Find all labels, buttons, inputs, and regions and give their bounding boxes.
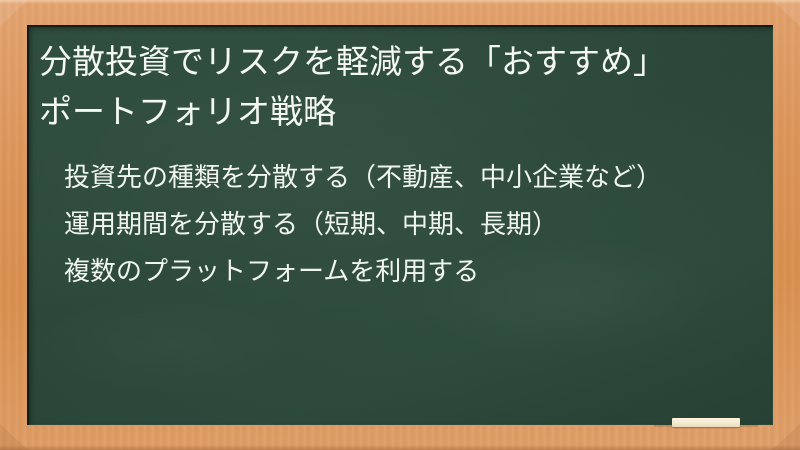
chalk-stick (672, 418, 740, 427)
frame-bottom-shadow (0, 445, 800, 450)
slide-content: 分散投資でリスクを軽減する「おすすめ」ポートフォリオ戦略 投資先の種類を分散する… (27, 25, 773, 425)
frame-top-highlight (0, 0, 800, 4)
bullet-list: 投資先の種類を分散する（不動産、中小企業など） 運用期間を分散する（短期、中期、… (33, 155, 759, 294)
bullet-item-2: 運用期間を分散する（短期、中期、長期） (64, 202, 704, 247)
chalkboard-slide: 分散投資でリスクを軽減する「おすすめ」ポートフォリオ戦略 投資先の種類を分散する… (0, 0, 800, 450)
bullet-item-3: 複数のプラットフォームを利用する (64, 249, 704, 294)
bullet-item-1: 投資先の種類を分散する（不動産、中小企業など） (64, 155, 704, 200)
slide-title: 分散投資でリスクを軽減する「おすすめ」ポートフォリオ戦略 (33, 33, 706, 137)
chalkboard-surface: 分散投資でリスクを軽減する「おすすめ」ポートフォリオ戦略 投資先の種類を分散する… (27, 25, 773, 425)
